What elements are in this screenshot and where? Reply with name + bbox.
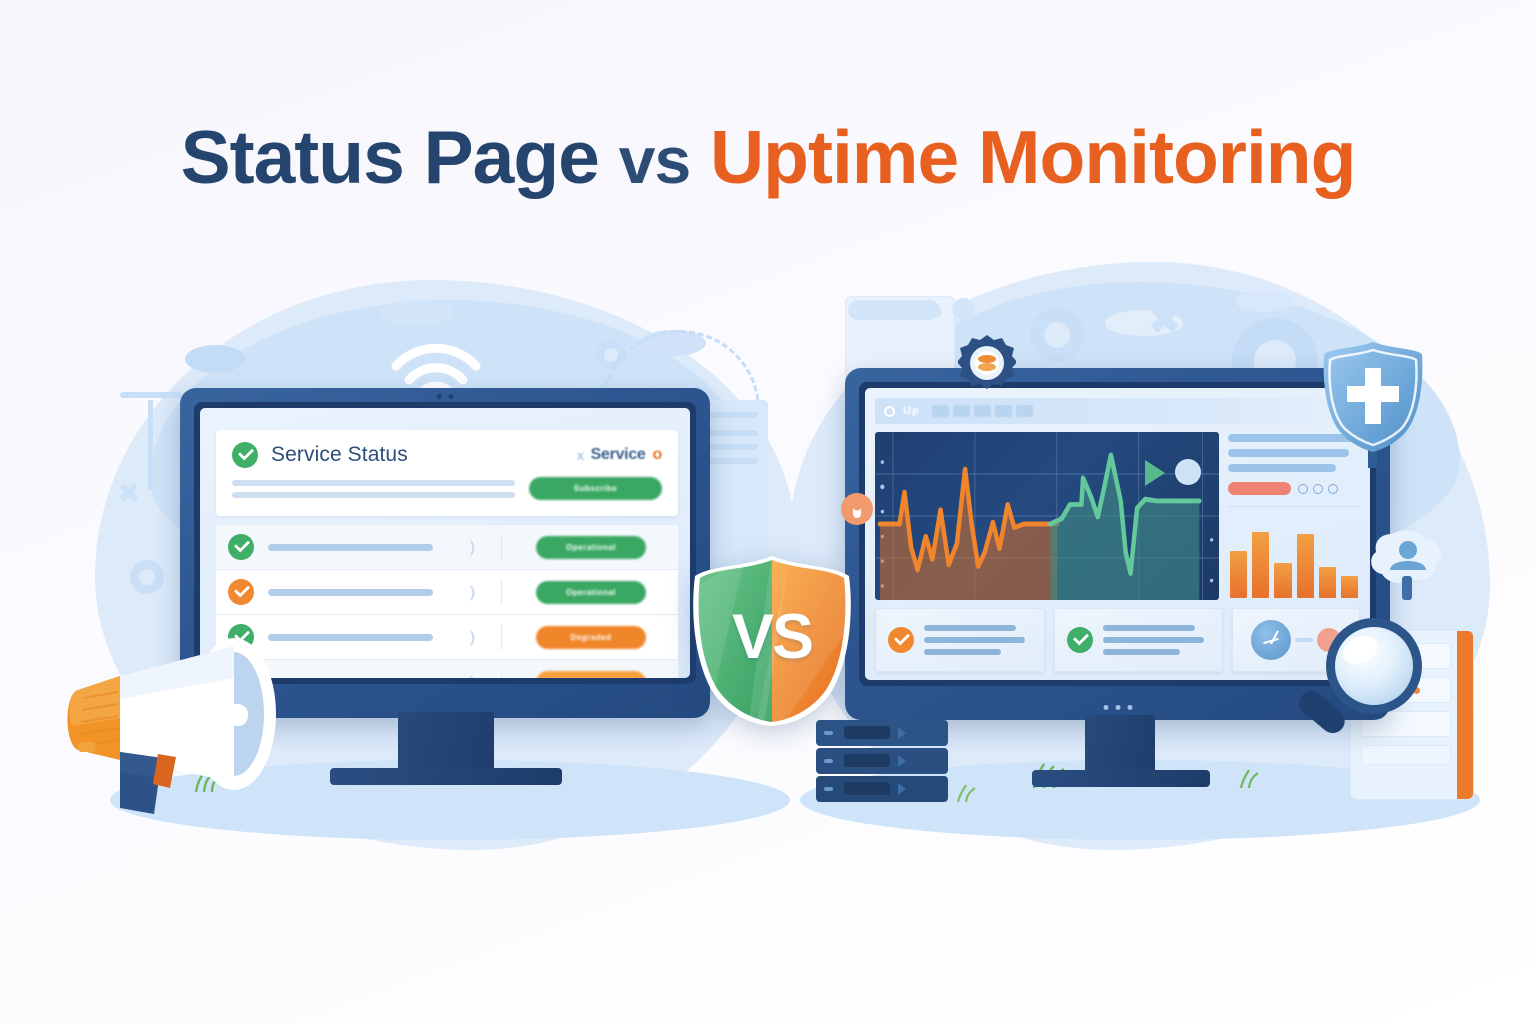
- gear-badge-icon: [958, 334, 1016, 392]
- status-badge: Degraded: [536, 626, 646, 649]
- gear-decor-5: [130, 560, 164, 594]
- status-page-header-skeleton: [232, 480, 515, 498]
- bar: [1297, 534, 1314, 598]
- lock-badge-icon: [840, 492, 874, 536]
- status-page-brand: x Service o: [577, 446, 662, 464]
- status-page-header-card: Service Status x Service o Subscribe: [216, 430, 678, 516]
- row-detail-text: ): [447, 584, 487, 601]
- sidebar-divider: [1228, 506, 1360, 507]
- cross-decor-1: ✖: [1148, 300, 1182, 340]
- play-triangle-icon[interactable]: [1145, 460, 1165, 486]
- circle-outline-icon: [884, 406, 895, 417]
- page-title: Status Page vs Uptime Monitoring: [0, 118, 1536, 197]
- sidebar-status-pill: [1228, 482, 1291, 495]
- table-row[interactable]: ) Operational: [216, 525, 678, 570]
- sidebar-status-row: [1228, 482, 1360, 495]
- cloud-decor-1: [185, 345, 245, 373]
- monitor-camera-dots-left: [437, 394, 454, 399]
- monitor-camera-dots-right: [1103, 705, 1132, 710]
- status-badge: Operational: [536, 536, 646, 559]
- page-title-part-vs: vs: [619, 123, 690, 197]
- gauge-icon: [1251, 620, 1291, 660]
- chart-svg: [875, 432, 1219, 600]
- page-title-part-accent: Uptime Monitoring: [710, 115, 1355, 199]
- vs-shield-badge: VS: [686, 554, 858, 726]
- background-pill-decor: [848, 300, 940, 320]
- subscribe-button[interactable]: Subscribe: [529, 477, 662, 500]
- shield-cross-icon: [1318, 340, 1428, 468]
- vs-label: VS: [686, 554, 858, 726]
- monitor-stand-base-left: [330, 768, 562, 785]
- sidebar-circle-group: [1298, 484, 1338, 494]
- brand-text: Service: [591, 446, 646, 464]
- cross-decor-2: ✖: [118, 480, 140, 506]
- circle-outline-icon: [1298, 484, 1308, 494]
- card-skeleton-lines: [1103, 625, 1211, 655]
- circle-icon: [1175, 459, 1201, 485]
- circle-outline-icon: [1328, 484, 1338, 494]
- list-item[interactable]: [875, 608, 1045, 672]
- status-page-title: Service Status: [271, 443, 408, 467]
- cloud-decor-5: [1235, 290, 1293, 312]
- circle-outline-icon: [1313, 484, 1323, 494]
- row-detail-text: ): [447, 539, 487, 556]
- bar: [1252, 532, 1269, 598]
- check-circle-icon: [888, 627, 914, 653]
- monitor-stand-neck-left: [398, 712, 494, 774]
- card-skeleton-lines: [924, 625, 1032, 655]
- row-detail-text: ): [447, 674, 487, 679]
- bar: [1341, 576, 1358, 598]
- check-circle-icon: [232, 442, 258, 468]
- brand-x-mark: x: [577, 447, 584, 463]
- response-time-chart[interactable]: [875, 432, 1219, 600]
- bar: [1230, 551, 1247, 598]
- monitor-stand-neck-right: [1085, 715, 1155, 777]
- gear-decor-1: [1030, 308, 1084, 362]
- status-badge: [536, 671, 646, 679]
- check-circle-icon: [228, 534, 254, 560]
- dashboard-main-area: [875, 432, 1360, 600]
- status-badge: Operational: [536, 581, 646, 604]
- dashboard-topbar-blocks: [932, 405, 1033, 417]
- tree-decor-1: [148, 400, 153, 490]
- server-stack-icon: [812, 718, 964, 806]
- row-divider: [501, 579, 502, 605]
- brand-suffix: o: [653, 446, 662, 464]
- row-divider: [501, 534, 502, 560]
- page-title-part-dark: Status Page: [181, 115, 599, 199]
- bar: [1274, 563, 1291, 598]
- dashboard-topbar: Up: [875, 398, 1360, 424]
- background-dot-decor: [952, 298, 974, 320]
- check-circle-icon: [228, 579, 254, 605]
- bar: [1319, 567, 1336, 598]
- list-item[interactable]: [1054, 608, 1224, 672]
- mini-bar-chart: [1228, 514, 1360, 600]
- megaphone-icon: [58, 618, 316, 823]
- magnifier-icon: [1288, 608, 1436, 758]
- tree-decor-2: [120, 392, 182, 398]
- row-detail-text: ): [447, 629, 487, 646]
- table-row[interactable]: ) Operational: [216, 570, 678, 615]
- dashboard-topbar-label: Up: [903, 405, 920, 417]
- avatar-badge-icon: [1368, 528, 1450, 606]
- row-divider: [501, 624, 502, 650]
- row-divider: [501, 669, 502, 678]
- check-circle-icon: [1067, 627, 1093, 653]
- row-service-name: [268, 589, 433, 596]
- row-service-name: [268, 544, 433, 551]
- cloud-decor-2: [380, 300, 454, 326]
- grass-decor-3: [1238, 768, 1268, 793]
- monitor-stand-base-right: [1032, 770, 1210, 787]
